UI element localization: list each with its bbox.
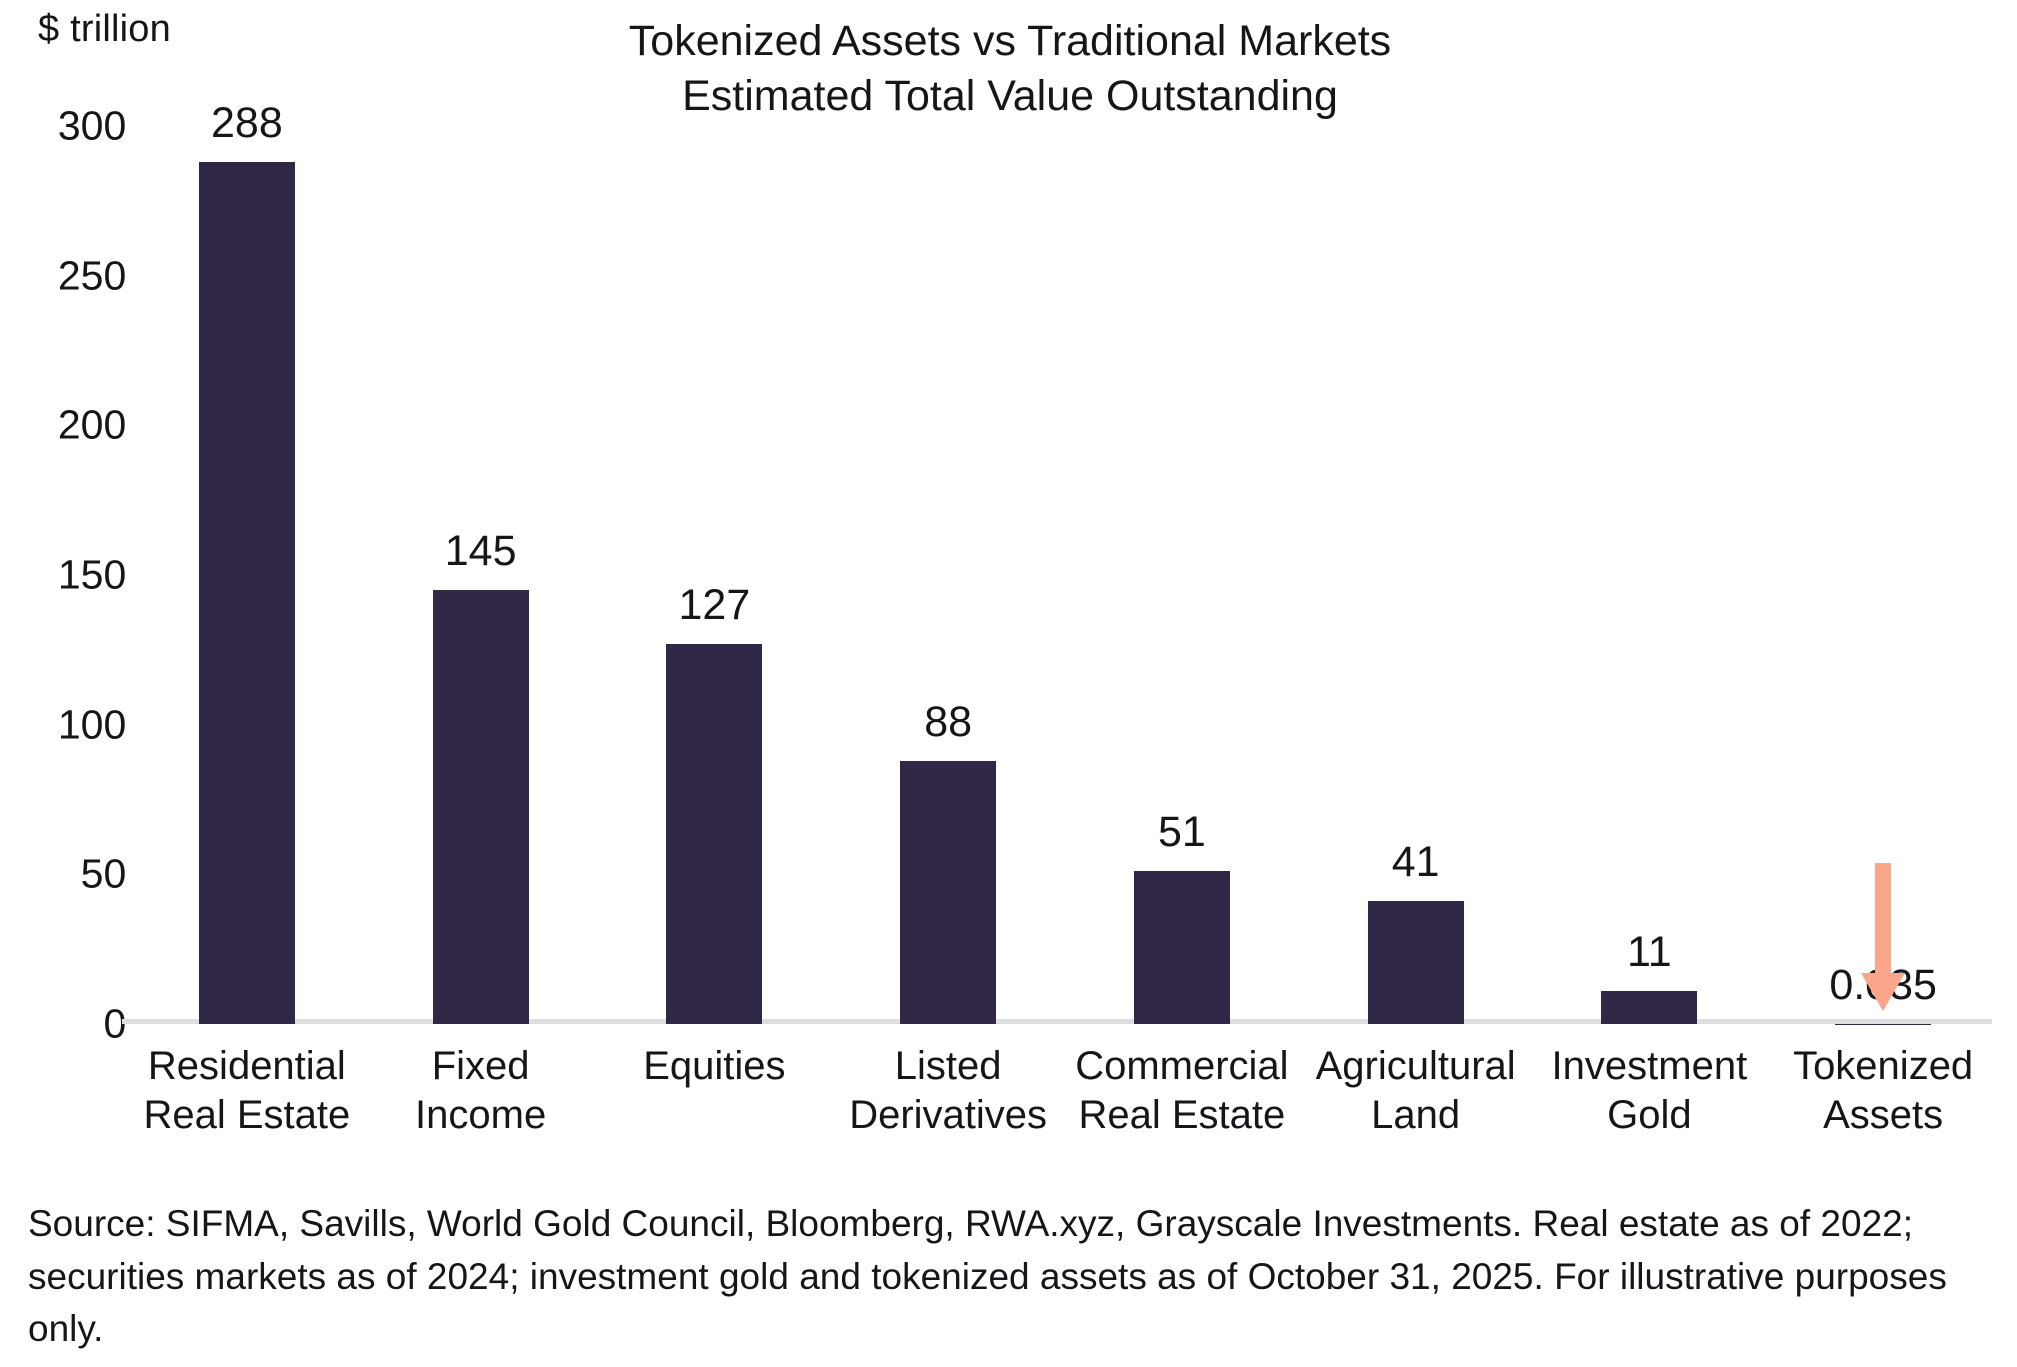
x-axis-label-line: Equities [643,1044,785,1088]
y-axis-tick-label: 150 [58,552,126,599]
x-axis-label-line: Gold [1533,1091,1767,1140]
x-axis-label-line: Tokenized [1793,1044,1973,1088]
chart-title-block: Tokenized Assets vs Traditional Markets … [220,14,1800,124]
bar-value-label: 127 [679,581,751,630]
x-axis-label-residential-real-estate: ResidentialReal Estate [130,1042,364,1140]
x-axis-label-tokenized-assets: TokenizedAssets [1766,1042,2000,1140]
bar-slot: 41 [1299,126,1533,1024]
y-axis-tick-label: 300 [58,103,126,150]
bar-value-label: 88 [924,698,972,747]
y-axis-tick-label: 0 [103,1001,126,1048]
chart-title: Tokenized Assets vs Traditional Markets [220,14,1800,69]
bar-investment-gold[interactable] [1601,991,1697,1024]
bar-slot: 51 [1065,126,1299,1024]
y-axis-tick-150: 150 [58,552,126,599]
y-axis-tick-label: 100 [58,701,126,748]
bar-agricultural-land[interactable] [1368,901,1464,1024]
bar-slot: 145 [364,126,598,1024]
y-axis-tick-label: 250 [58,252,126,299]
y-axis-unit-label: $ trillion [38,8,171,51]
bar-residential-real-estate[interactable] [199,162,295,1024]
x-axis-label-line: Assets [1766,1091,2000,1140]
bar-listed-derivatives[interactable] [900,761,996,1024]
y-axis-tick-200: 200 [58,402,126,449]
chart-figure: $ trillion Tokenized Assets vs Tradition… [0,0,2017,1367]
y-axis-tick-label: 200 [58,402,126,449]
x-axis-label-line: Agricultural [1316,1044,1516,1088]
x-axis-label-line: Income [364,1091,598,1140]
x-axis-label-listed-derivatives: ListedDerivatives [831,1042,1065,1140]
y-axis-tick-100: 100 [58,701,126,748]
x-axis-label-line: Investment [1552,1044,1748,1088]
x-axis-label-line: Fixed [432,1044,530,1088]
y-axis-tick-50: 50 [81,851,127,898]
y-axis-tick-label: 50 [81,851,127,898]
bar-value-label: 41 [1392,838,1440,887]
bar-value-label: 145 [445,527,517,576]
x-axis-label-line: Real Estate [130,1091,364,1140]
bar-slot: 88 [831,126,1065,1024]
bar-value-label: 51 [1158,808,1206,857]
bar-slot: 127 [598,126,832,1024]
bar-fixed-income[interactable] [433,590,529,1024]
bar-commercial-real-estate[interactable] [1134,871,1230,1024]
source-footnote: Source: SIFMA, Savills, World Gold Counc… [28,1198,1990,1356]
chart-subtitle: Estimated Total Value Outstanding [220,69,1800,124]
bar-slot: 288 [130,126,364,1024]
y-axis-tick-300: 300 [58,103,126,150]
x-axis-label-commercial-real-estate: CommercialReal Estate [1065,1042,1299,1140]
x-axis-label-agricultural-land: AgriculturalLand [1299,1042,1533,1140]
bar-series: 288145127885141110.035 [130,126,2000,1024]
bar-slot: 11 [1533,126,1767,1024]
x-axis-label-line: Commercial [1075,1044,1288,1088]
x-axis-label-line: Listed [895,1044,1002,1088]
y-axis-tick-250: 250 [58,252,126,299]
x-axis-label-equities: Equities [598,1042,832,1091]
x-axis-label-line: Derivatives [831,1091,1065,1140]
x-axis-label-fixed-income: FixedIncome [364,1042,598,1140]
bar-value-label: 11 [1627,928,1672,977]
x-axis-label-line: Land [1299,1091,1533,1140]
bar-value-label: 288 [211,99,283,148]
x-axis-label-line: Real Estate [1065,1091,1299,1140]
bar-equities[interactable] [666,644,762,1024]
y-axis-tick-0: 0 [103,1001,126,1048]
plot-area: 050100150200250300 288145127885141110.03… [130,126,2000,1024]
downward-arrow-icon [1853,863,1913,1013]
x-axis-label-line: Residential [148,1044,346,1088]
x-axis-label-investment-gold: InvestmentGold [1533,1042,1767,1140]
